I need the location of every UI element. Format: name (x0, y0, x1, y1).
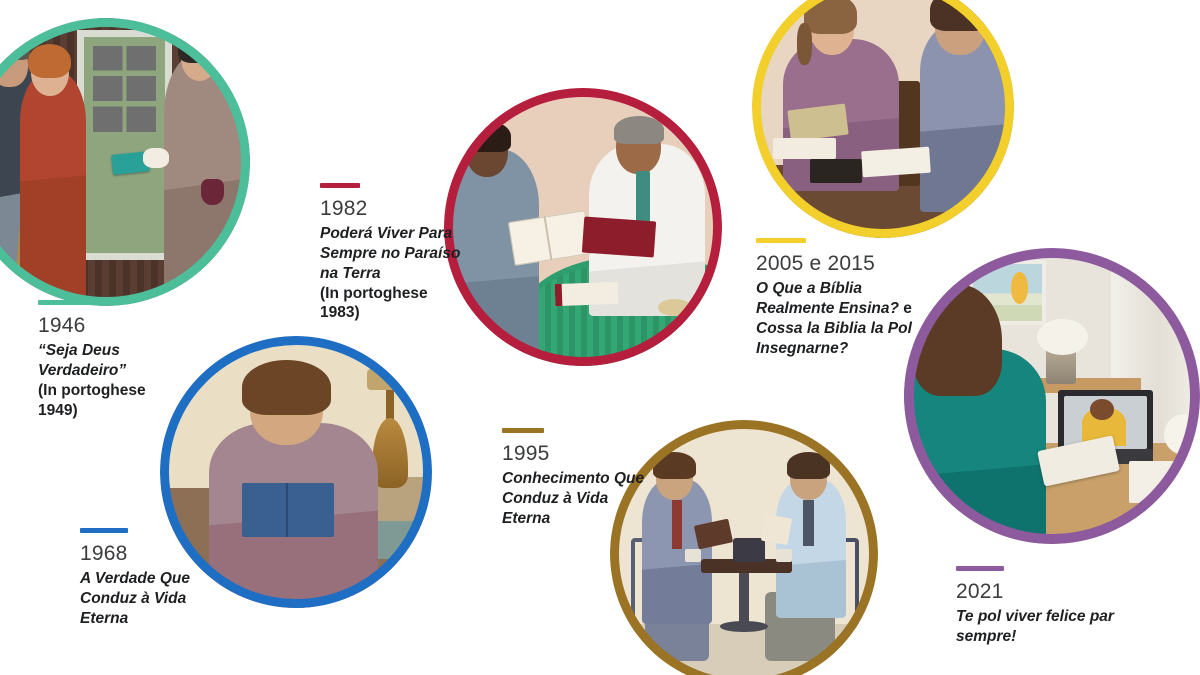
caption-2005-2015: 2005 e 2015 O Que a Bíblia Realmente Ens… (756, 238, 916, 358)
caption-1968: 1968 A Verdade Que Conduz à Vida Eterna (80, 528, 210, 629)
accent-dash-1995 (502, 428, 544, 433)
year-1982: 1982 (320, 197, 470, 220)
title-2005: O Que a Bíblia Realmente Ensina? (756, 280, 899, 317)
medallion-2021[interactable] (904, 248, 1200, 544)
timeline-canvas: 1946 “Seja Deus Verdadeiro” (In portoghe… (0, 0, 1200, 675)
caption-1982: 1982 Poderá Viver Para Sempre no Paraíso… (320, 183, 470, 323)
medallion-1946[interactable] (0, 18, 250, 306)
year-1968: 1968 (80, 542, 210, 565)
video-call-study-2021-illustration (904, 248, 1200, 544)
woman-teaching-bible-2005-illustration (752, 0, 1014, 238)
caption-1995: 1995 Conhecimento Que Conduz à Vida Eter… (502, 428, 652, 529)
door-to-door-1946-illustration (0, 18, 250, 306)
title-2015: Cossa la Biblia la Pol Insegnarne? (756, 320, 912, 357)
medallion-2005-2015[interactable] (752, 0, 1014, 238)
title-1982: Poderá Viver Para Sempre no Paraíso na T… (320, 224, 470, 283)
accent-dash-2005-2015 (756, 238, 806, 243)
title-2005-2015: O Que a Bíblia Realmente Ensina? e Cossa… (756, 279, 916, 358)
year-1995: 1995 (502, 442, 652, 465)
bible-study-green-table-1982-illustration (444, 88, 722, 366)
accent-dash-1982 (320, 183, 360, 188)
year-2021: 2021 (956, 580, 1136, 603)
subtitle-1982: (In portoghese 1983) (320, 284, 470, 324)
accent-dash-1946 (38, 300, 88, 305)
year-1946: 1946 (38, 314, 188, 337)
title-2021: Te pol viver felice par sempre! (956, 607, 1136, 647)
title-1995: Conhecimento Que Conduz à Vida Eterna (502, 469, 652, 528)
medallion-1982[interactable] (444, 88, 722, 366)
accent-dash-2021 (956, 566, 1004, 571)
title-1968: A Verdade Que Conduz à Vida Eterna (80, 569, 210, 628)
accent-dash-1968 (80, 528, 128, 533)
year-2005-2015: 2005 e 2015 (756, 252, 916, 275)
caption-2021: 2021 Te pol viver felice par sempre! (956, 566, 1136, 647)
